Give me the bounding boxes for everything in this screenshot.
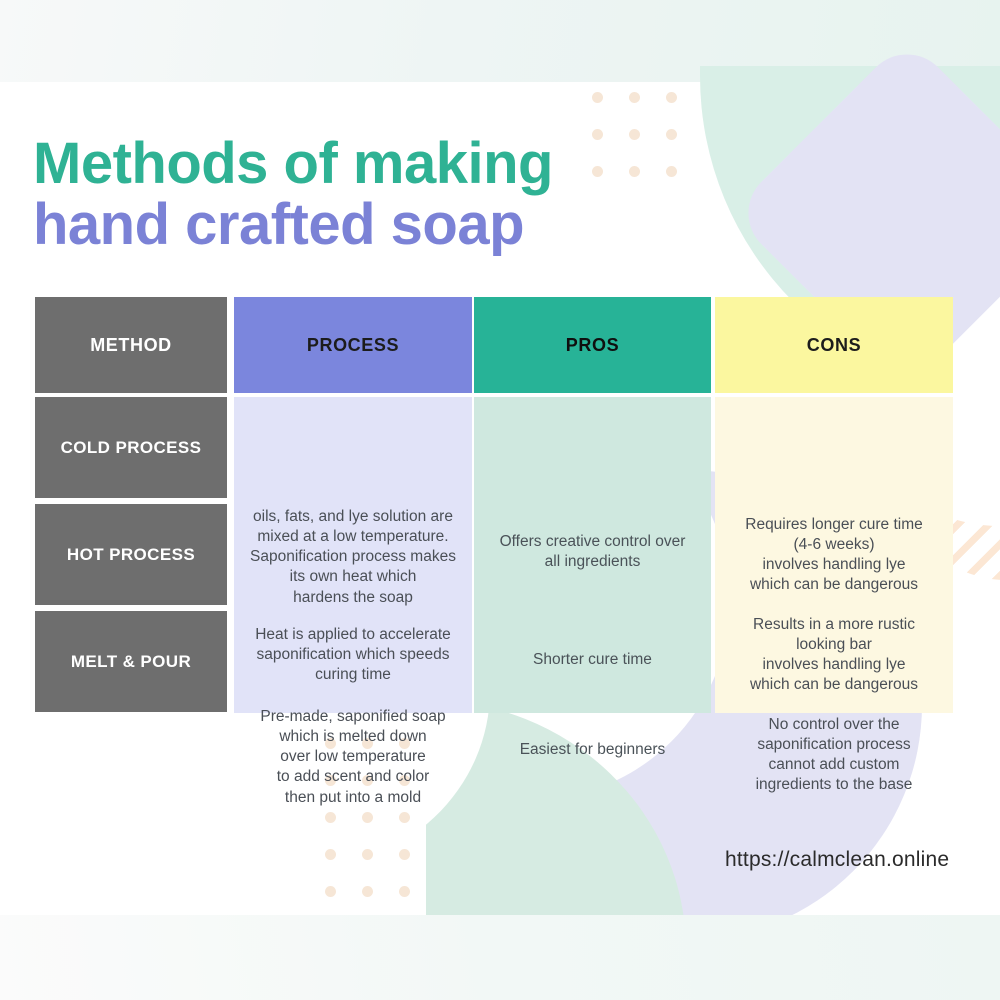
- pros-cell-hot-process: Shorter cure time: [474, 650, 711, 670]
- process-cell-cold-process: oils, fats, and lye solution are mixed a…: [234, 507, 472, 608]
- method-cell-hot-process: HOT PROCESS: [35, 504, 227, 605]
- decor-dot: [325, 886, 336, 897]
- comparison-table: METHOD COLD PROCESS HOT PROCESS MELT & P…: [35, 297, 953, 713]
- cons-cell-hot-process: Results in a more rustic looking bar inv…: [715, 615, 953, 696]
- decor-dot: [592, 92, 603, 103]
- column-process: PROCESS oils, fats, and lye solution are…: [234, 297, 472, 713]
- title-line-2: hand crafted soap: [33, 194, 553, 255]
- decor-dot: [592, 166, 603, 177]
- decor-dot: [362, 886, 373, 897]
- decor-dot: [399, 886, 410, 897]
- bottom-gradient-band: [0, 915, 1000, 1000]
- title-line-1: Methods of making: [33, 133, 553, 194]
- pros-cell-cold-process: Offers creative control over all ingredi…: [474, 532, 711, 572]
- decor-dot: [629, 129, 640, 140]
- decor-dot: [362, 849, 373, 860]
- decor-dot: [325, 849, 336, 860]
- decor-dot: [666, 92, 677, 103]
- pros-cell-melt-and-pour: Easiest for beginners: [474, 740, 711, 760]
- process-cell-melt-and-pour: Pre-made, saponified soap which is melte…: [234, 707, 472, 808]
- process-body: oils, fats, and lye solution are mixed a…: [234, 397, 472, 713]
- method-cell-melt-and-pour: MELT & POUR: [35, 611, 227, 712]
- header-process: PROCESS: [234, 297, 472, 393]
- cons-body: Requires longer cure time (4-6 weeks) in…: [715, 397, 953, 713]
- header-cons: CONS: [715, 297, 953, 393]
- decor-dot: [666, 129, 677, 140]
- header-method: METHOD: [35, 297, 227, 393]
- decor-dot: [362, 812, 373, 823]
- decor-dot: [325, 812, 336, 823]
- page-title: Methods of making hand crafted soap: [33, 133, 553, 256]
- column-pros: PROS Offers creative control over all in…: [474, 297, 711, 713]
- column-cons: CONS Requires longer cure time (4-6 week…: [715, 297, 953, 713]
- pros-body: Offers creative control over all ingredi…: [474, 397, 711, 713]
- cons-cell-cold-process: Requires longer cure time (4-6 weeks) in…: [715, 515, 953, 596]
- decor-dot: [629, 166, 640, 177]
- decor-dot: [666, 166, 677, 177]
- decor-dot: [399, 812, 410, 823]
- method-cell-cold-process: COLD PROCESS: [35, 397, 227, 498]
- header-pros: PROS: [474, 297, 711, 393]
- decor-dot: [592, 129, 603, 140]
- cons-cell-melt-and-pour: No control over the saponification proce…: [715, 715, 953, 796]
- decor-dot: [629, 92, 640, 103]
- website-url[interactable]: https://calmclean.online: [725, 848, 949, 872]
- decor-dot: [399, 849, 410, 860]
- process-cell-hot-process: Heat is applied to accelerate saponifica…: [234, 625, 472, 685]
- column-method: METHOD COLD PROCESS HOT PROCESS MELT & P…: [35, 297, 227, 713]
